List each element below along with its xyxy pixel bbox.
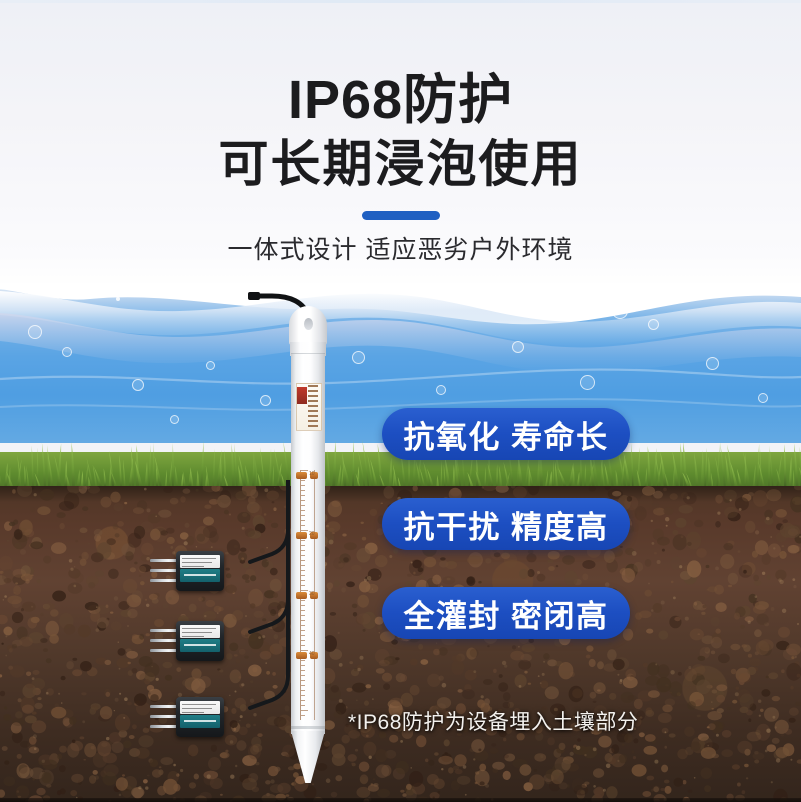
probe-tip: [291, 731, 325, 783]
probe-cap-port-icon: [304, 318, 313, 330]
scale-marker: [296, 592, 307, 599]
scale-marker: [296, 652, 307, 659]
scale-tick: [301, 695, 305, 696]
feature-badge-1-label: 抗氧化 寿命长: [403, 412, 608, 457]
bubble-icon: [512, 341, 524, 353]
scale-number: 20: [309, 531, 315, 537]
scale-tick: [301, 530, 308, 531]
scale-tick: [301, 540, 305, 541]
scale-tick: [301, 505, 305, 506]
scale-tick: [301, 670, 305, 671]
scale-tick: [301, 555, 305, 556]
scale-tick: [301, 685, 305, 686]
page-title-line1: IP68防护: [0, 72, 801, 129]
scale-tick: [301, 560, 305, 561]
feature-badge-3[interactable]: 全灌封 密闭高: [382, 587, 630, 639]
sensor-label-white: [180, 555, 220, 568]
bubble-icon: [758, 393, 768, 403]
scale-tick: [301, 580, 305, 581]
scale-tick: [301, 705, 305, 706]
scale-tick: [301, 585, 305, 586]
scale-tick: [301, 550, 305, 551]
sensor-label-teal: [180, 569, 220, 582]
bubble-icon: [28, 325, 42, 339]
sensor-label-white: [180, 701, 220, 714]
header-top-edge: [0, 0, 801, 3]
bubble-icon: [612, 303, 628, 319]
bubble-icon: [260, 395, 271, 406]
product-label-text: [308, 385, 318, 427]
scale-tick: [301, 700, 305, 701]
bubble-icon: [706, 357, 719, 370]
scale-tick: [301, 665, 305, 666]
feature-badge-1[interactable]: 抗氧化 寿命长: [382, 408, 630, 460]
scale-tick: [301, 500, 305, 501]
scale-tick: [301, 635, 305, 636]
product-poster: IP68防护 可长期浸泡使用 一体式设计 适应恶劣户外环境: [0, 0, 801, 802]
scale-marker: [296, 472, 307, 479]
page-title-line2: 可长期浸泡使用: [0, 138, 801, 191]
scale-tick: [301, 525, 305, 526]
product-label-brand-mark: [297, 387, 307, 404]
accent-bar: [362, 211, 440, 220]
scale-tick: [301, 605, 305, 606]
soil-sensor-2[interactable]: [150, 621, 224, 661]
scale-marker: [296, 532, 307, 539]
scale-tick: [301, 485, 305, 486]
scale-tick: [301, 650, 308, 651]
bubble-icon: [62, 347, 72, 357]
probe-ring: [291, 726, 325, 729]
scale-number: 40: [309, 651, 315, 657]
scale-tick: [301, 680, 305, 681]
bubble-icon: [648, 319, 659, 330]
scale-tick: [301, 625, 305, 626]
scale-tick: [301, 510, 305, 511]
bubble-icon: [206, 361, 215, 370]
scale-tick: [301, 545, 305, 546]
footnote-text: *IP68防护为设备埋入土壤部分: [348, 706, 768, 736]
scale-tick: [301, 710, 308, 711]
scale-tick: [301, 520, 305, 521]
scale-tick: [301, 660, 305, 661]
sensor-label-white: [180, 625, 220, 638]
spray-droplet-icon: [396, 289, 401, 294]
scale-tick: [301, 715, 305, 716]
sensor-label-teal: [180, 639, 220, 652]
bubble-icon: [132, 379, 144, 391]
scale-tick: [301, 610, 305, 611]
scale-tick: [301, 645, 305, 646]
scale-tick: [301, 490, 305, 491]
scale-tick: [301, 690, 305, 691]
feature-badge-3-label: 全灌封 密闭高: [403, 591, 608, 636]
scale-tick: [301, 615, 305, 616]
bubble-icon: [170, 415, 179, 424]
soil-sensor-1[interactable]: [150, 551, 224, 591]
spray-droplet-icon: [116, 297, 120, 301]
scale-tick: [301, 630, 305, 631]
scale-tick: [301, 495, 305, 496]
scale-tick: [301, 470, 308, 471]
page-subtitle: 一体式设计 适应恶劣户外环境: [0, 230, 801, 266]
sensor-label-teal: [180, 715, 220, 728]
scale-tick: [301, 565, 305, 566]
scale-tick: [301, 575, 305, 576]
scale-tick: [301, 590, 308, 591]
bubble-icon: [580, 375, 595, 390]
bubble-icon: [352, 351, 365, 364]
header-section: IP68防护 可长期浸泡使用 一体式设计 适应恶劣户外环境: [0, 0, 801, 290]
scale-number: 10: [309, 471, 315, 477]
scale-tick: [301, 480, 305, 481]
scale-number: 30: [309, 591, 315, 597]
scale-tick: [301, 600, 305, 601]
spray-droplet-icon: [690, 293, 694, 297]
scale-tick: [301, 640, 305, 641]
scale-tick: [301, 570, 305, 571]
feature-badge-2-label: 抗干扰 精度高: [403, 502, 608, 547]
measurement-scale: 10203040: [300, 470, 318, 720]
feature-badge-2[interactable]: 抗干扰 精度高: [382, 498, 630, 550]
scale-tick: [301, 515, 305, 516]
bubble-icon: [436, 385, 446, 395]
scale-tick: [301, 620, 305, 621]
scale-tick: [301, 675, 305, 676]
soil-sensor-3[interactable]: [150, 697, 224, 737]
